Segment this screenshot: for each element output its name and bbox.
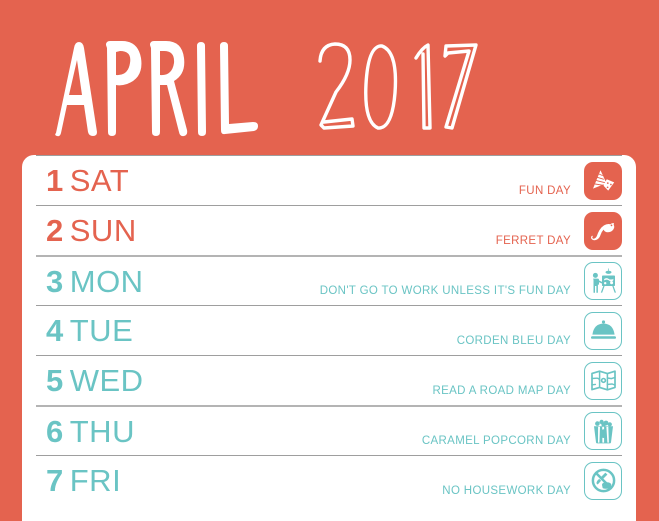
day-number: 6	[46, 416, 63, 447]
day-weekday: TUE	[70, 315, 134, 346]
event-label: DON'T GO TO WORK UNLESS IT'S FUN DAY	[144, 265, 584, 297]
day-weekday: MON	[70, 266, 144, 297]
day-label: 4 TUE	[36, 315, 133, 346]
ferret-icon[interactable]	[584, 212, 622, 250]
day-row-1[interactable]: 1 SAT FUN DAY	[36, 155, 622, 205]
day-row-2[interactable]: 2 SUN FERRET DAY	[36, 205, 622, 255]
day-label: 7 FRI	[36, 465, 121, 496]
day-number: 2	[46, 215, 63, 246]
day-number: 4	[46, 315, 63, 346]
day-number: 5	[46, 365, 63, 396]
day-row-6[interactable]: 6 THU CARAMEL POPCORN DAY	[36, 405, 622, 455]
page-title	[34, 36, 482, 146]
day-label: 6 THU	[36, 416, 135, 447]
day-weekday: THU	[70, 416, 135, 447]
day-row-7[interactable]: 7 FRI NO HOUSEWORK DAY	[36, 455, 622, 505]
food-cloche-icon[interactable]	[584, 312, 622, 350]
day-label: 1 SAT	[36, 165, 129, 196]
month-title-text	[34, 36, 266, 141]
day-label: 2 SUN	[36, 215, 137, 246]
event-label: FUN DAY	[129, 165, 584, 197]
presentation-board-icon[interactable]	[584, 262, 622, 300]
event-label: CARAMEL POPCORN DAY	[135, 415, 584, 447]
year-title-text	[312, 36, 482, 141]
party-hat-icon[interactable]	[584, 162, 622, 200]
day-label: 5 WED	[36, 365, 144, 396]
event-label: READ A ROAD MAP DAY	[144, 365, 584, 397]
day-label: 3 MON	[36, 266, 144, 297]
event-label: CORDEN BLEU DAY	[133, 315, 584, 347]
day-row-5[interactable]: 5 WED READ A ROAD MAP DAY	[36, 355, 622, 405]
no-housework-prohibited-icon[interactable]	[584, 462, 622, 500]
event-label: FERRET DAY	[137, 215, 584, 247]
calendar-card: 1 SAT FUN DAY	[22, 155, 636, 521]
day-weekday: SAT	[70, 165, 130, 196]
day-number: 3	[46, 266, 63, 297]
day-weekday: WED	[70, 365, 144, 396]
day-row-3[interactable]: 3 MON DON'T GO TO WORK UNLESS IT'S FUN D…	[36, 255, 622, 305]
day-number: 1	[46, 165, 63, 196]
day-weekday: SUN	[70, 215, 137, 246]
road-map-icon[interactable]	[584, 362, 622, 400]
calendar-header	[0, 0, 659, 155]
popcorn-bucket-icon[interactable]	[584, 412, 622, 450]
event-label: NO HOUSEWORK DAY	[121, 465, 584, 497]
day-row-4[interactable]: 4 TUE CORDEN BLEU DAY	[36, 305, 622, 355]
day-weekday: FRI	[70, 465, 121, 496]
day-number: 7	[46, 465, 63, 496]
